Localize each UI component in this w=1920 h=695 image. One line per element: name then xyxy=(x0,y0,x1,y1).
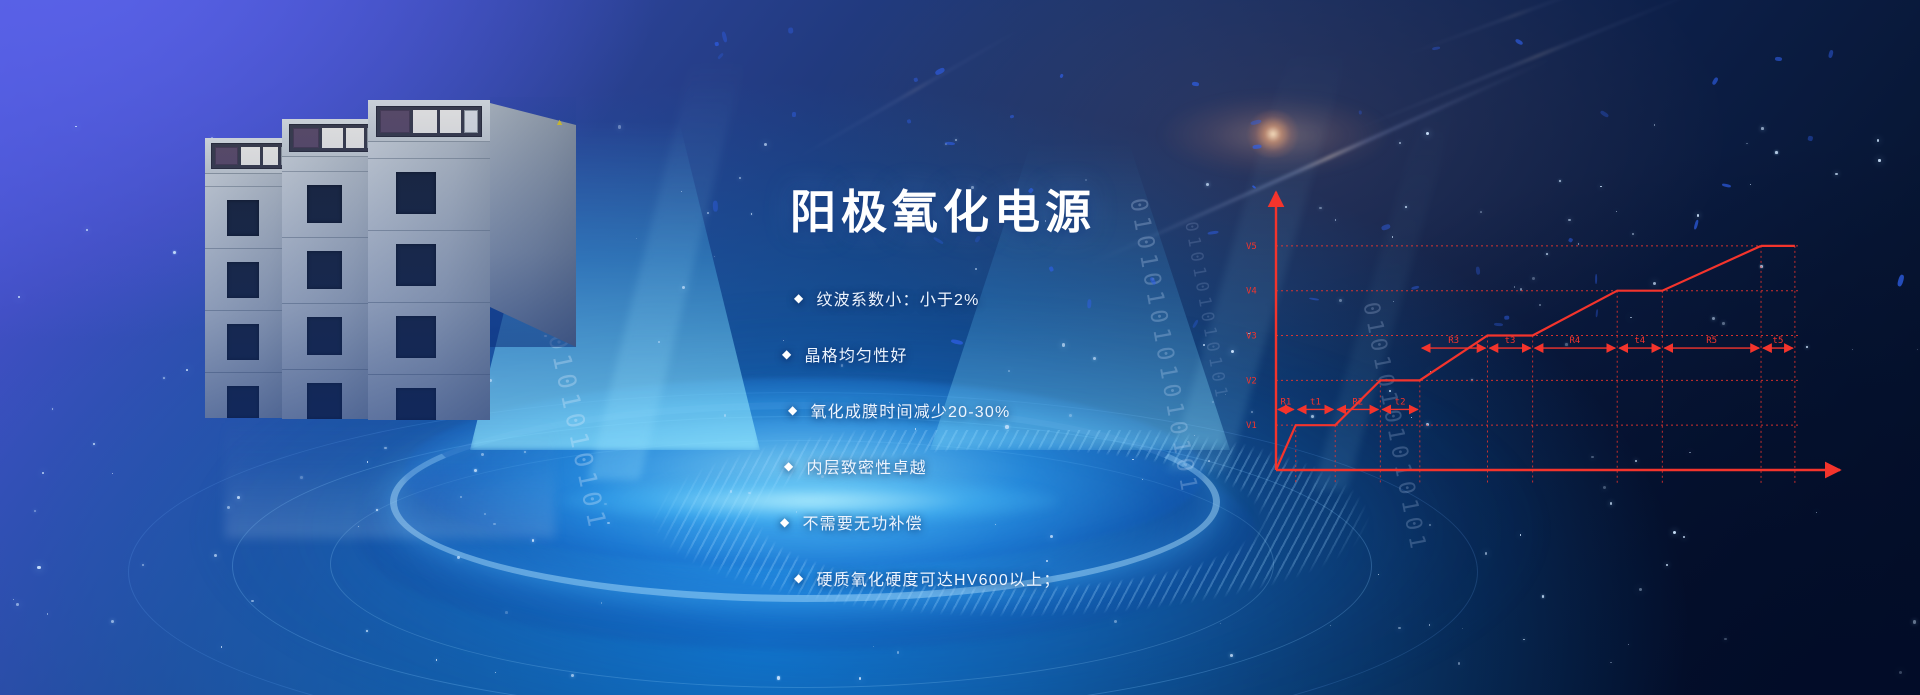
particle-dot xyxy=(366,630,368,632)
particle-dot xyxy=(1485,552,1488,555)
particle-dot xyxy=(1610,662,1612,664)
particle-dot xyxy=(1913,620,1916,623)
particle-dot xyxy=(751,213,753,215)
voltage-ramp-svg: V1V2V3V4V5 R1t1R2t2R3t3R4t4R5t5 xyxy=(1240,170,1860,510)
cabinet-seam xyxy=(368,302,490,303)
particle-dot xyxy=(1746,143,1748,145)
particle-dot xyxy=(1542,595,1544,597)
particle-dot xyxy=(214,554,217,557)
particle-dot xyxy=(227,506,230,509)
particle-shard xyxy=(717,52,724,59)
particle-shard xyxy=(1808,135,1814,141)
cabinet-vent xyxy=(227,200,259,236)
particle-shard xyxy=(1060,74,1065,79)
particle-shard xyxy=(713,200,718,211)
particle-dot xyxy=(186,369,188,371)
particle-dot xyxy=(42,472,44,474)
particle-dot xyxy=(1639,588,1642,591)
particle-dot xyxy=(75,126,77,128)
particle-shard xyxy=(1192,82,1199,87)
chart-segment-annotations: R1t1R2t2R3t3R4t4R5t5 xyxy=(1278,336,1793,409)
diamond-bullet-icon: ◆ xyxy=(794,572,804,584)
hmi-keypad xyxy=(293,128,319,148)
particle-dot xyxy=(1378,574,1380,576)
chart-segment-label: t1 xyxy=(1310,397,1321,407)
particle-dot xyxy=(1399,142,1401,144)
chart-y-tick-labels: V1V2V3V4V5 xyxy=(1246,242,1257,431)
diamond-bullet-icon: ◆ xyxy=(784,460,794,472)
particle-dot xyxy=(1877,139,1879,141)
power-cabinet-right xyxy=(368,100,490,420)
cabinet-vent xyxy=(227,386,259,418)
cabinet-seam xyxy=(368,158,490,159)
particle-dot xyxy=(1878,159,1880,161)
particle-dot xyxy=(18,296,20,298)
chart-segment-label: t5 xyxy=(1773,336,1784,346)
cabinet-vent xyxy=(227,262,259,298)
particle-dot xyxy=(52,408,53,409)
particle-dot xyxy=(1761,127,1764,130)
particle-dot xyxy=(1230,654,1233,657)
particle-shard xyxy=(945,141,956,145)
particle-shard xyxy=(788,27,793,33)
chart-segment-label: R3 xyxy=(1448,336,1459,346)
particle-dot xyxy=(1429,624,1430,625)
particle-dot xyxy=(707,212,709,214)
light-streak xyxy=(780,17,1041,169)
particle-shard xyxy=(1208,230,1219,235)
particle-dot xyxy=(714,256,715,257)
particle-shard xyxy=(1897,274,1905,287)
cabinet-side xyxy=(490,97,576,347)
chart-segment-label: R1 xyxy=(1280,397,1291,407)
nameplate-label xyxy=(263,147,279,165)
particle-dot xyxy=(1899,671,1902,674)
particle-shard xyxy=(1049,266,1054,272)
cabinet-vent xyxy=(396,172,436,214)
feature-list-item: ◆ 不需要无功补偿 xyxy=(780,510,1330,534)
particle-dot xyxy=(859,677,861,679)
particle-dot xyxy=(945,143,947,145)
cabinet-vent xyxy=(307,185,342,223)
particle-dot xyxy=(975,268,977,270)
particle-dot xyxy=(1220,623,1221,624)
particle-shard xyxy=(1010,115,1015,119)
particle-dot xyxy=(1426,132,1429,135)
particle-shard xyxy=(1432,46,1440,50)
particle-dot xyxy=(173,251,176,254)
particle-shard xyxy=(1600,110,1610,118)
cabinet-vent xyxy=(307,317,342,355)
particle-dot xyxy=(300,476,303,479)
cabinet-vent xyxy=(396,388,436,420)
cabinet-vent xyxy=(396,316,436,358)
chart-segment-label: t4 xyxy=(1634,336,1645,346)
chart-series-line xyxy=(1276,246,1761,470)
particle-shard xyxy=(1775,56,1782,60)
cabinet-seam xyxy=(368,374,490,375)
light-streak xyxy=(1387,0,1632,62)
particle-shard xyxy=(1711,77,1719,86)
cabinet-vent xyxy=(227,324,259,360)
particle-shard xyxy=(792,112,796,117)
nameplate-label xyxy=(413,110,437,133)
nameplate-label xyxy=(241,147,260,165)
light-streak xyxy=(1335,0,1725,139)
particle-dot xyxy=(682,286,685,289)
particle-dot xyxy=(86,229,88,231)
power-cabinet-side-face: ▲ xyxy=(490,97,576,347)
voltage-ramp-chart: V1V2V3V4V5 R1t1R2t2R3t3R4t4R5t5 xyxy=(1240,170,1860,510)
chart-vertical-gridlines xyxy=(1296,246,1795,484)
particle-dot xyxy=(897,651,900,654)
particle-dot xyxy=(1458,662,1460,664)
particle-dot xyxy=(1816,512,1817,513)
particle-dot xyxy=(636,238,637,239)
particle-dot xyxy=(1666,564,1668,566)
hmi-keypad xyxy=(380,110,410,133)
particle-shard xyxy=(914,78,919,83)
particle-dot xyxy=(764,143,767,146)
particle-dot xyxy=(618,125,621,128)
feature-list-item-label: 晶格均匀性好 xyxy=(804,342,907,366)
chart-segment-label: t2 xyxy=(1395,397,1406,407)
feature-list-item-label: 氧化成膜时间减少20-30% xyxy=(810,398,1010,422)
particle-dot xyxy=(142,564,144,566)
nameplate-label xyxy=(322,128,343,148)
particle-dot xyxy=(13,599,14,600)
particle-dot xyxy=(1628,644,1629,645)
particle-dot xyxy=(1654,124,1655,125)
feature-list-item-label: 硬质氧化硬度可达HV600以上； xyxy=(816,566,1060,590)
cabinet-control-panel xyxy=(376,106,482,137)
cabinet-vent xyxy=(307,383,342,419)
particle-dot xyxy=(47,613,49,615)
particle-dot xyxy=(1330,625,1331,626)
particle-dot xyxy=(658,341,660,343)
particle-dot xyxy=(681,191,682,192)
cabinet-vent xyxy=(307,251,342,289)
banner-root: 0101010101010101 0101010101010101 010101… xyxy=(0,0,1920,695)
nameplate-label xyxy=(440,110,461,133)
warning-label-icon: ▲ xyxy=(555,117,564,127)
particle-dot xyxy=(16,603,19,606)
page-title: 阳极氧化电源 xyxy=(790,176,1096,242)
particle-dot xyxy=(955,139,957,141)
particle-dot xyxy=(367,461,369,463)
particle-dot xyxy=(1462,628,1463,629)
cabinet-control-head xyxy=(368,100,490,142)
cabinet-seam xyxy=(368,230,490,231)
particle-dot xyxy=(1673,531,1676,534)
chart-segment-label: R4 xyxy=(1569,336,1580,346)
diamond-bullet-icon: ◆ xyxy=(782,348,792,360)
feature-list-item-label: 不需要无功补偿 xyxy=(802,510,922,534)
diamond-bullet-icon: ◆ xyxy=(788,404,798,416)
particle-shard xyxy=(1150,277,1157,286)
power-cabinet-group: ▲ xyxy=(205,100,595,430)
chart-y-tick-label: V3 xyxy=(1246,332,1257,342)
diamond-bullet-icon: ◆ xyxy=(780,516,790,528)
feature-list-item-label: 内层致密性卓越 xyxy=(806,454,926,478)
particle-dot xyxy=(1429,524,1431,526)
particle-dot xyxy=(1523,639,1525,641)
particle-dot xyxy=(777,676,780,679)
chart-y-tick-label: V4 xyxy=(1246,287,1257,297)
particle-dot xyxy=(1520,534,1522,536)
lens-flare-halo xyxy=(1160,95,1390,175)
particle-dot xyxy=(163,377,165,379)
particle-dot xyxy=(1206,183,1209,186)
particle-shard xyxy=(906,119,911,124)
particle-dot xyxy=(237,496,240,499)
particle-dot xyxy=(221,646,222,647)
chart-y-tick-label: V2 xyxy=(1246,376,1257,386)
particle-shard xyxy=(714,41,718,45)
particle-dot xyxy=(251,600,253,602)
panel-meter xyxy=(464,110,478,133)
chart-segment-label: t3 xyxy=(1505,336,1516,346)
particle-shard xyxy=(1828,50,1834,59)
particle-dot xyxy=(1398,627,1400,629)
cabinet-vent xyxy=(396,244,436,286)
particle-dot xyxy=(37,566,40,569)
particle-dot xyxy=(1724,638,1726,640)
hmi-keypad xyxy=(215,147,238,165)
particle-dot xyxy=(1683,536,1685,538)
particle-dot xyxy=(739,177,741,179)
diamond-bullet-icon: ◆ xyxy=(794,292,804,304)
particle-shard xyxy=(721,31,728,43)
chart-y-tick-label: V5 xyxy=(1246,242,1257,252)
particle-dot xyxy=(112,473,113,474)
particle-dot xyxy=(495,672,496,673)
particle-shard xyxy=(1514,38,1523,46)
feature-list-item: ◆ 硬质氧化硬度可达HV600以上； xyxy=(794,566,1330,590)
particle-dot xyxy=(93,443,95,445)
particle-dot xyxy=(34,510,36,512)
particle-dot xyxy=(1917,349,1918,350)
particle-dot xyxy=(571,674,574,677)
particle-dot xyxy=(384,447,386,449)
particle-dot xyxy=(436,659,438,661)
nameplate-label xyxy=(346,128,364,148)
chart-y-tick-label: V1 xyxy=(1246,421,1257,431)
particle-dot xyxy=(111,620,114,623)
particle-dot xyxy=(1775,151,1778,154)
feature-list-item-label: 纹波系数小：小于2% xyxy=(816,286,979,310)
particle-shard xyxy=(934,67,945,76)
chart-segment-label: R5 xyxy=(1706,336,1717,346)
particle-dot xyxy=(783,340,784,341)
chart-segment-label: R2 xyxy=(1352,397,1363,407)
